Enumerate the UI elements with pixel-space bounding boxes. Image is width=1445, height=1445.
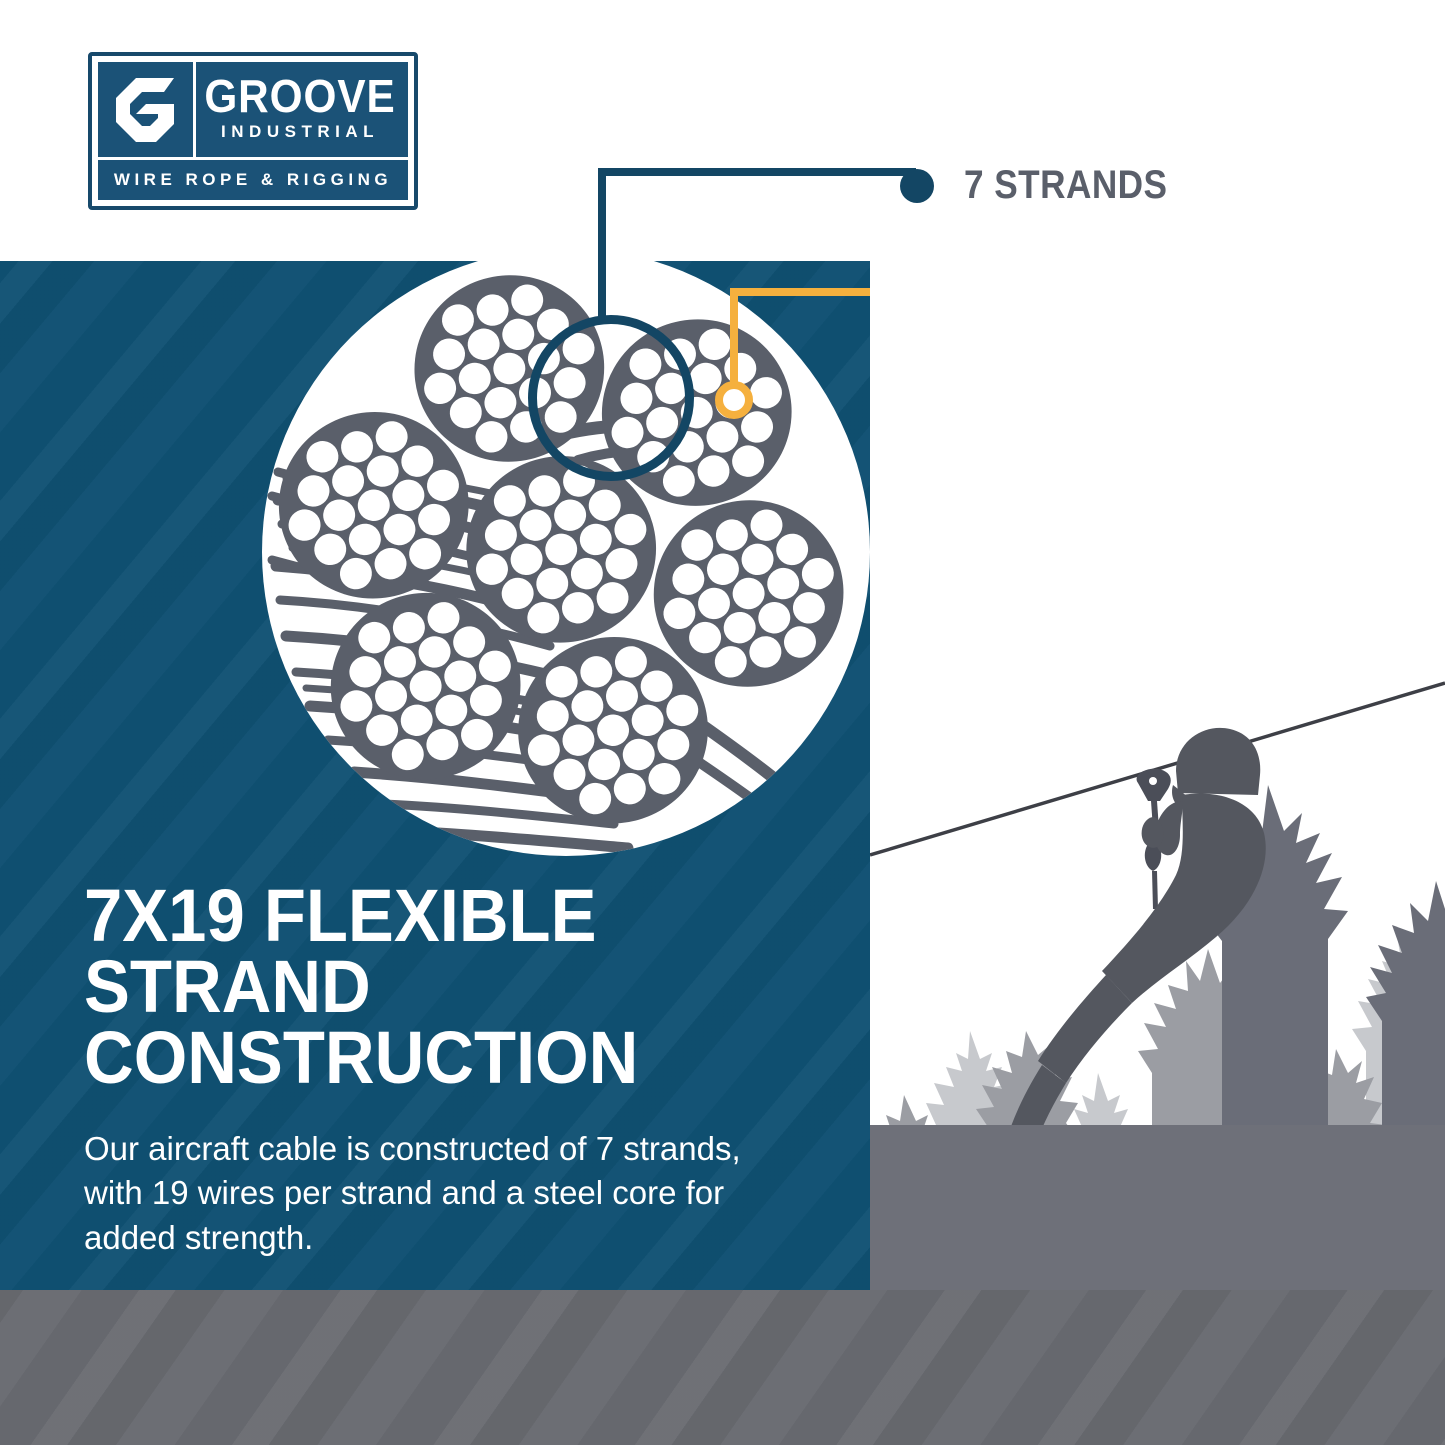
brand-logo: GROOVE INDUSTRIAL WIRE ROPE & RIGGING [88, 52, 418, 210]
callout-label-strands: 7 STRANDS [964, 163, 1167, 208]
headline-line-1: 7X19 FLEXIBLE [84, 880, 791, 951]
logo-top-row: GROOVE INDUSTRIAL [98, 62, 408, 160]
callout-strands[interactable]: 7 STRANDS [900, 163, 1195, 208]
logo-brand-subtitle: INDUSTRIAL [221, 120, 379, 144]
headline-line-2: STRAND CONSTRUCTION [84, 951, 791, 1093]
bottom-diagonal-texture [0, 1290, 1445, 1445]
callout-dot-strands [900, 169, 934, 203]
headline-block: 7X19 FLEXIBLE STRAND CONSTRUCTION Our ai… [84, 880, 844, 1260]
logo-tagline-bar: WIRE ROPE & RIGGING [98, 160, 408, 200]
bottom-gray-bar [0, 1290, 1445, 1445]
scene-ground-band [870, 1125, 1445, 1290]
logo-brand-name: GROOVE [204, 75, 395, 117]
logo-tagline: WIRE ROPE & RIGGING [114, 170, 392, 190]
logo-wordmark: GROOVE INDUSTRIAL [196, 62, 408, 157]
logo-inner-frame: GROOVE INDUSTRIAL WIRE ROPE & RIGGING [95, 59, 411, 203]
infographic-page: GROOVE INDUSTRIAL WIRE ROPE & RIGGING [0, 0, 1445, 1445]
body-paragraph: Our aircraft cable is constructed of 7 s… [84, 1127, 764, 1260]
magnifier-ring [528, 315, 694, 481]
groove-g-monogram-icon [98, 62, 196, 157]
